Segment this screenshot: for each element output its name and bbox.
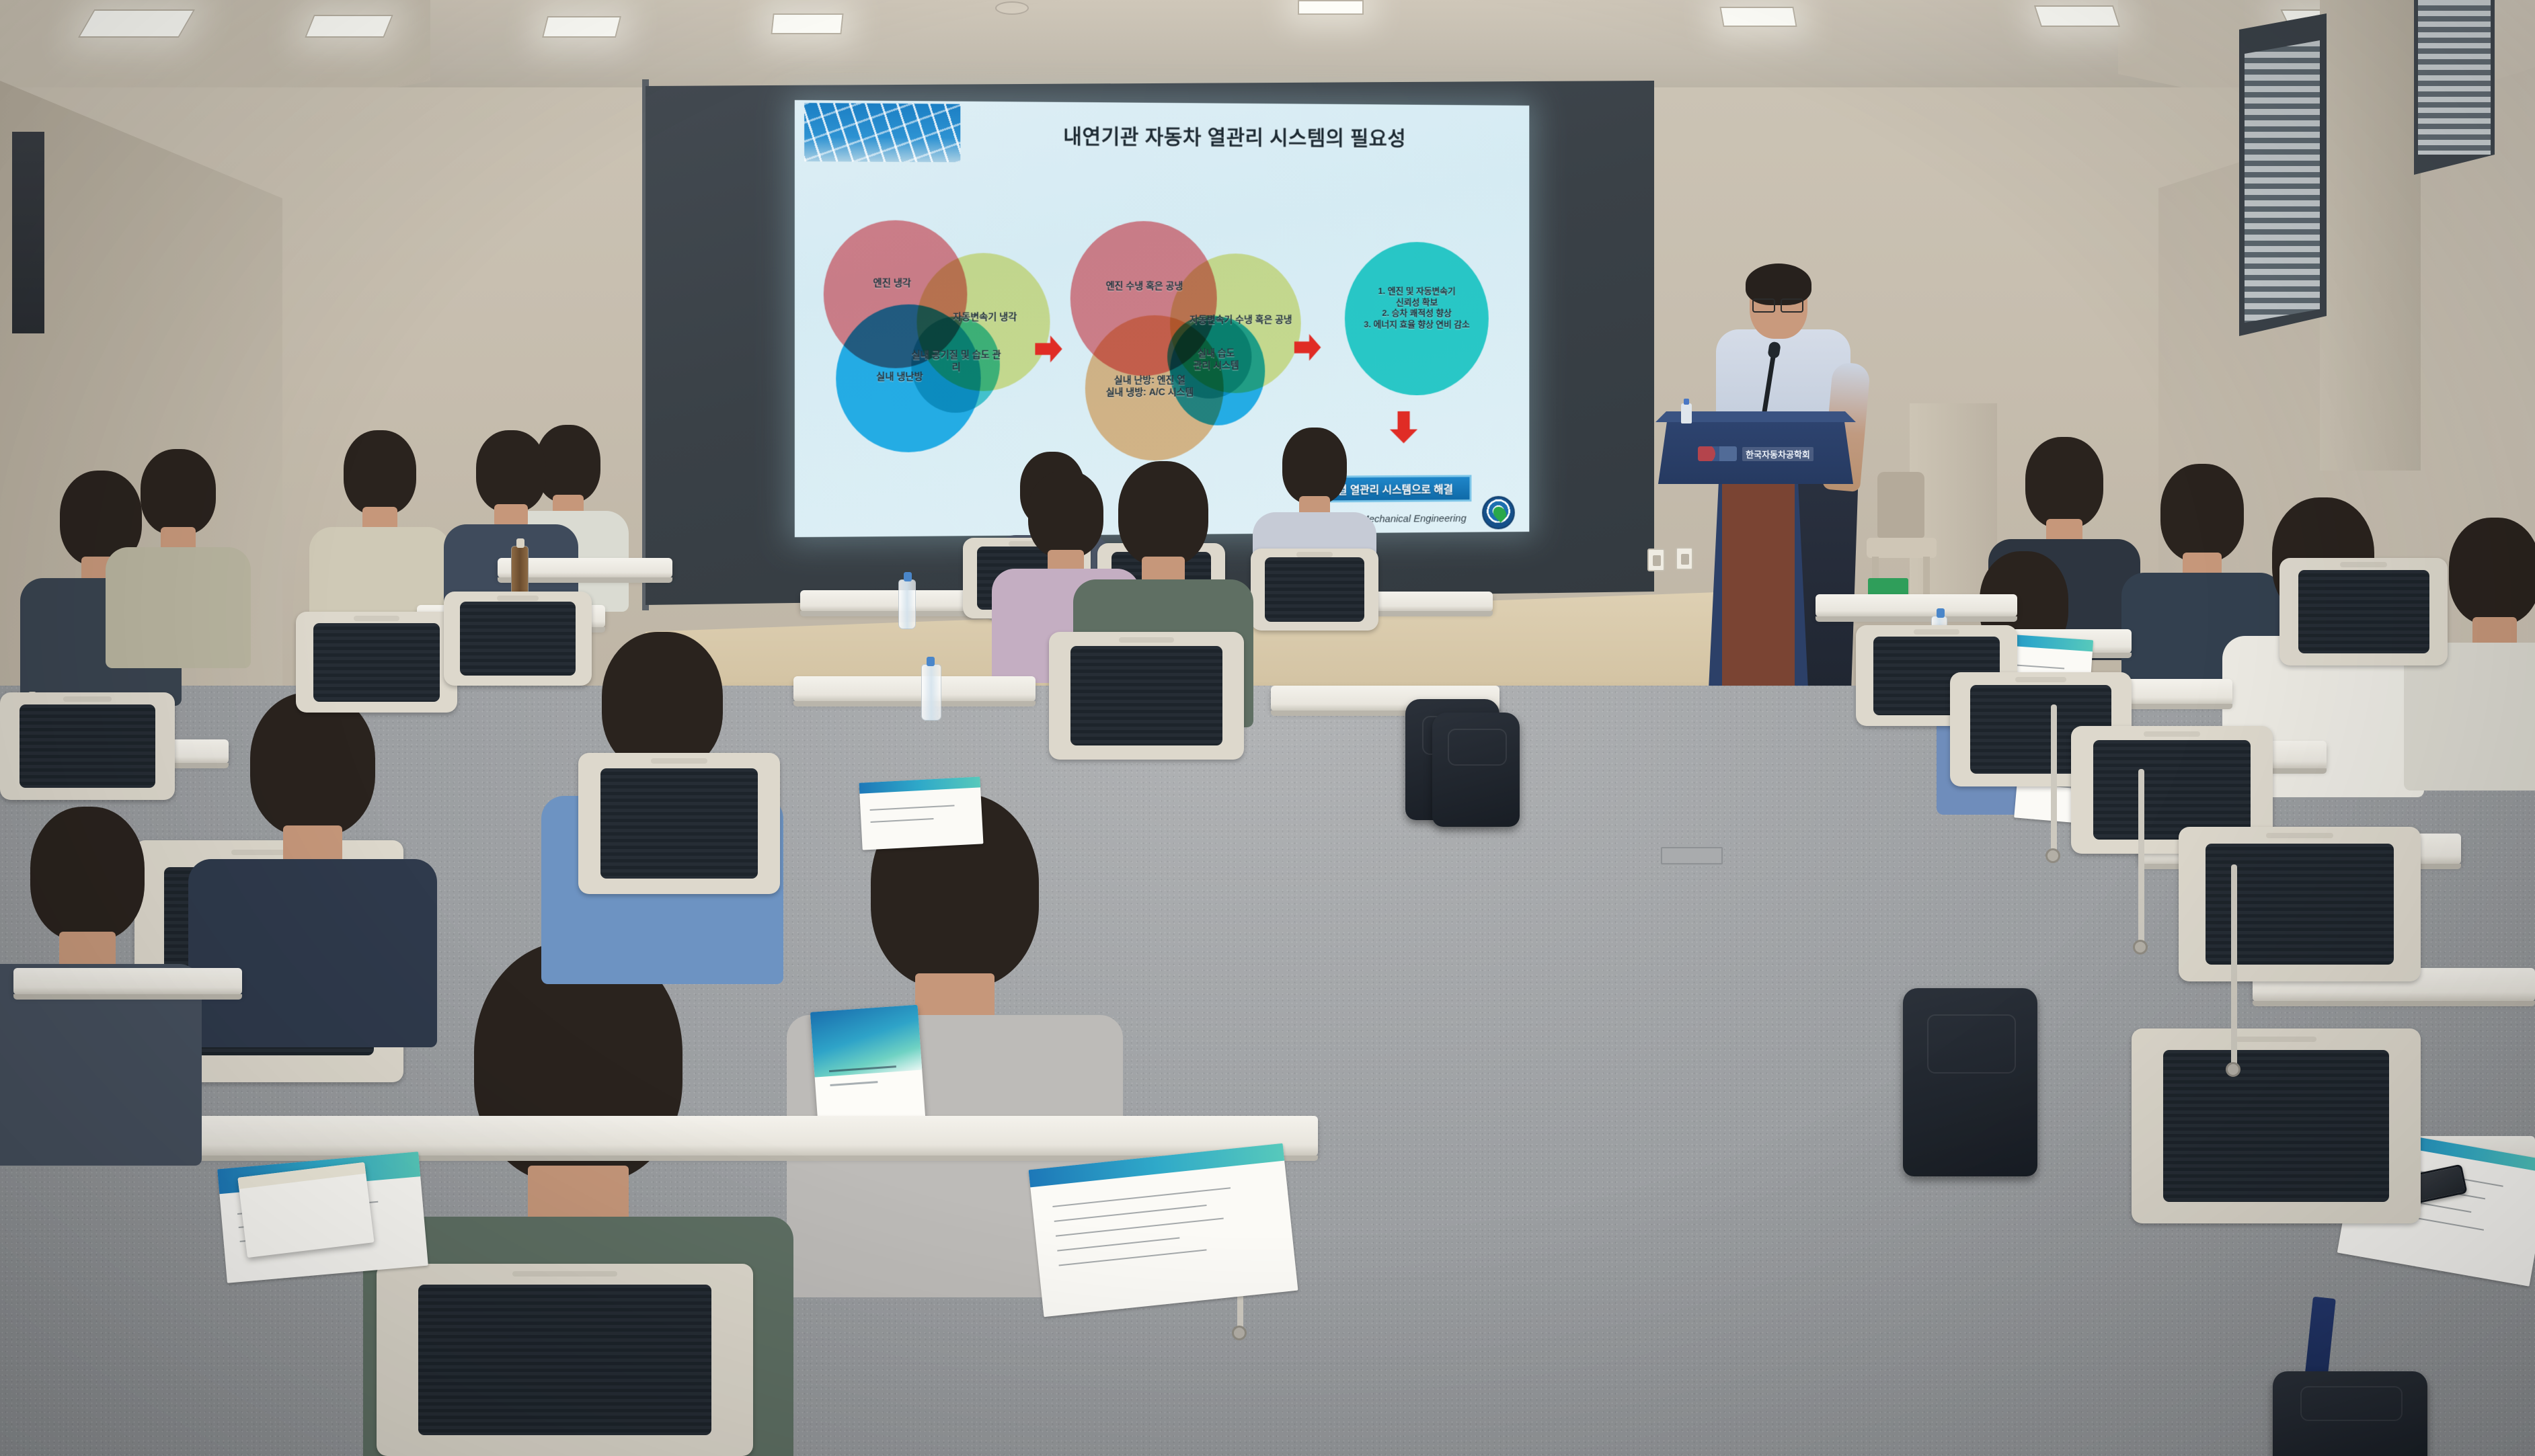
- chair-label: [1119, 637, 1173, 643]
- label-cabin-heating-cooling: 실내 난방: 엔진 열 실내 냉방: A/C 시스템: [1077, 374, 1222, 399]
- water-bottle: [921, 664, 941, 721]
- slide-title: 내연기관 자동차 열관리 시스템의 필요성: [966, 119, 1500, 152]
- attendee-head: [2025, 437, 2103, 528]
- window-blinds-icon: [2418, 0, 2491, 155]
- handout-text-line: [1058, 1238, 1180, 1252]
- attendee-head: [2160, 464, 2244, 562]
- attendee-head: [2449, 518, 2535, 625]
- left-wall-speaker-panel: [12, 132, 44, 333]
- right-wall-column: [2320, 0, 2421, 471]
- chair: [2132, 1028, 2421, 1223]
- chair-mesh-back: [1070, 646, 1222, 745]
- label-engine-cooling: 엔진 냉각: [844, 277, 939, 289]
- venn-diagram-area: 엔진 냉각 자동변속기 냉각 실내 냉난방 실내 공기질 및 습도 관리 엔진 …: [795, 214, 1529, 500]
- venn-group-current-needs: 엔진 냉각 자동변속기 냉각 실내 냉난방 실내 공기질 및 습도 관리: [821, 214, 1026, 500]
- chair: [296, 612, 457, 713]
- speaker-glasses-icon: [1752, 298, 1803, 310]
- chair-mesh-back: [418, 1285, 712, 1434]
- label-engine-water-air-cooling: 엔진 수냉 혹은 공냉: [1077, 280, 1212, 292]
- floor-access-plate: [1661, 847, 1723, 864]
- desk-caster: [1232, 1326, 1247, 1340]
- desk-caster: [2045, 848, 2060, 863]
- chair-label: [2015, 677, 2066, 682]
- attendee-head: [476, 430, 546, 512]
- desk-front-row: [161, 1116, 1318, 1156]
- chair-label: [512, 1271, 618, 1277]
- chair-label: [651, 758, 707, 764]
- attendee-neck: [915, 973, 994, 1020]
- ceiling-light-panel: [2034, 5, 2120, 27]
- wall-outlet-icon: [1647, 549, 1665, 571]
- attendee-neck: [494, 504, 528, 527]
- handout-text-line: [870, 805, 955, 811]
- ceiling-light-panel: [771, 13, 843, 34]
- ceiling-light-panel: [1719, 7, 1797, 27]
- chair-mesh-back: [2093, 740, 2251, 840]
- ceiling-light-panel: [542, 16, 621, 38]
- chair-label: [1296, 552, 1332, 557]
- handout-papers: [859, 776, 984, 850]
- attendee-head: [141, 449, 216, 535]
- label-benefits: 1. 엔진 및 자동변속기 신뢰성 확보 2. 승차 쾌적성 향상 3. 에너지…: [1353, 286, 1481, 330]
- ceiling-light-panel: [305, 15, 393, 38]
- chair-label: [354, 616, 399, 621]
- label-cabin-humidity-system: 실내 습도 관리 시스템: [1177, 348, 1255, 372]
- attendee-head: [30, 807, 145, 941]
- attendee-head: [1028, 471, 1103, 558]
- desk: [13, 968, 242, 995]
- stage-chair-back: [1877, 472, 1924, 538]
- chair: [1251, 549, 1378, 631]
- window-blinds-icon: [2245, 40, 2320, 323]
- backpack: [1432, 713, 1520, 827]
- attendee: [121, 449, 235, 644]
- chair-mesh-back: [460, 602, 576, 675]
- podium-org-logo-icon: [1698, 446, 1737, 461]
- chair: [2179, 827, 2421, 981]
- chair-label: [2340, 562, 2387, 567]
- desk: [1816, 594, 2017, 617]
- chair: [444, 592, 592, 686]
- label-transmission-cooling: 자동변속기 냉각: [932, 311, 1038, 323]
- desk-leg: [2138, 769, 2144, 944]
- desk: [793, 676, 1036, 702]
- handout-text-line: [871, 818, 934, 823]
- chair-mesh-back: [600, 768, 758, 879]
- podium-front-panel: 한국자동차공학회: [1662, 430, 1849, 477]
- attendee-head: [1282, 428, 1347, 504]
- handout-text-line: [1054, 1205, 1207, 1222]
- attendee-torso: [188, 859, 437, 1047]
- smoke-detector-icon: [995, 1, 1029, 15]
- wall-outlet-icon: [1676, 547, 1693, 570]
- handout-papers: [1029, 1143, 1298, 1318]
- chair-label: [2236, 1037, 2316, 1042]
- attendee-head: [344, 430, 416, 515]
- spiral-notebook: [237, 1162, 374, 1258]
- desk-caster: [2226, 1062, 2240, 1077]
- attendee-neck: [528, 1166, 629, 1225]
- chair-label: [63, 696, 112, 702]
- chair-label: [2144, 731, 2200, 737]
- podium-water-bottle: [1681, 403, 1692, 423]
- chair: [1049, 632, 1244, 760]
- chair-mesh-back: [19, 704, 156, 788]
- chair-label: [1914, 629, 1959, 635]
- water-bottle: [898, 579, 916, 629]
- attendee-neck: [283, 825, 342, 863]
- booklet-cover: [810, 1005, 922, 1078]
- ceiling-light-panel: [1298, 0, 1364, 15]
- attendee: [323, 430, 437, 618]
- coffee-bottle: [511, 546, 529, 597]
- booklet-subtitle-line: [830, 1081, 877, 1086]
- chair-mesh-back: [2298, 570, 2429, 654]
- chair-label: [2266, 833, 2334, 838]
- desk-leg: [2231, 864, 2237, 1066]
- chair: [578, 753, 780, 894]
- empty-chair: [2279, 558, 2448, 665]
- chair-label: [497, 596, 539, 601]
- lecture-hall-photo: 내연기관 자동차 열관리 시스템의 필요성 엔진 냉각 자동변속기 냉각 실내 …: [0, 0, 2535, 1456]
- chair-mesh-back: [313, 623, 439, 702]
- chair-mesh-back: [1265, 557, 1364, 621]
- attendee-neck: [59, 932, 116, 968]
- podium-sign-text: 한국자동차공학회: [1742, 447, 1813, 461]
- desk-leg: [2051, 704, 2057, 852]
- desk-caster: [2133, 940, 2148, 955]
- attendee-head: [250, 692, 375, 836]
- chair: [377, 1264, 753, 1456]
- podium-column: [1708, 481, 1809, 703]
- attendee-head: [1118, 461, 1208, 566]
- attendee: [1264, 428, 1365, 569]
- bag: [2273, 1371, 2427, 1456]
- stage-chair-seat: [1867, 538, 1937, 558]
- handout-text-line: [1056, 1218, 1224, 1237]
- label-cabin-air-quality: 실내 공기질 및 습도 관리: [907, 349, 1005, 373]
- handout-text-line: [1059, 1250, 1206, 1266]
- label-transmission-water-air-cooling: 자동변속기 수냉 혹은 공냉: [1175, 314, 1306, 326]
- slide-header-graphic: [804, 103, 960, 162]
- backpack: [1903, 988, 2037, 1176]
- attendee-head: [602, 632, 723, 772]
- chair-mesh-back: [2163, 1050, 2388, 1202]
- attendee: [222, 692, 403, 975]
- university-logo-icon: [1482, 496, 1515, 530]
- chair: [0, 692, 175, 800]
- ceiling-light-panel: [78, 9, 195, 38]
- attendee-torso: [106, 547, 251, 668]
